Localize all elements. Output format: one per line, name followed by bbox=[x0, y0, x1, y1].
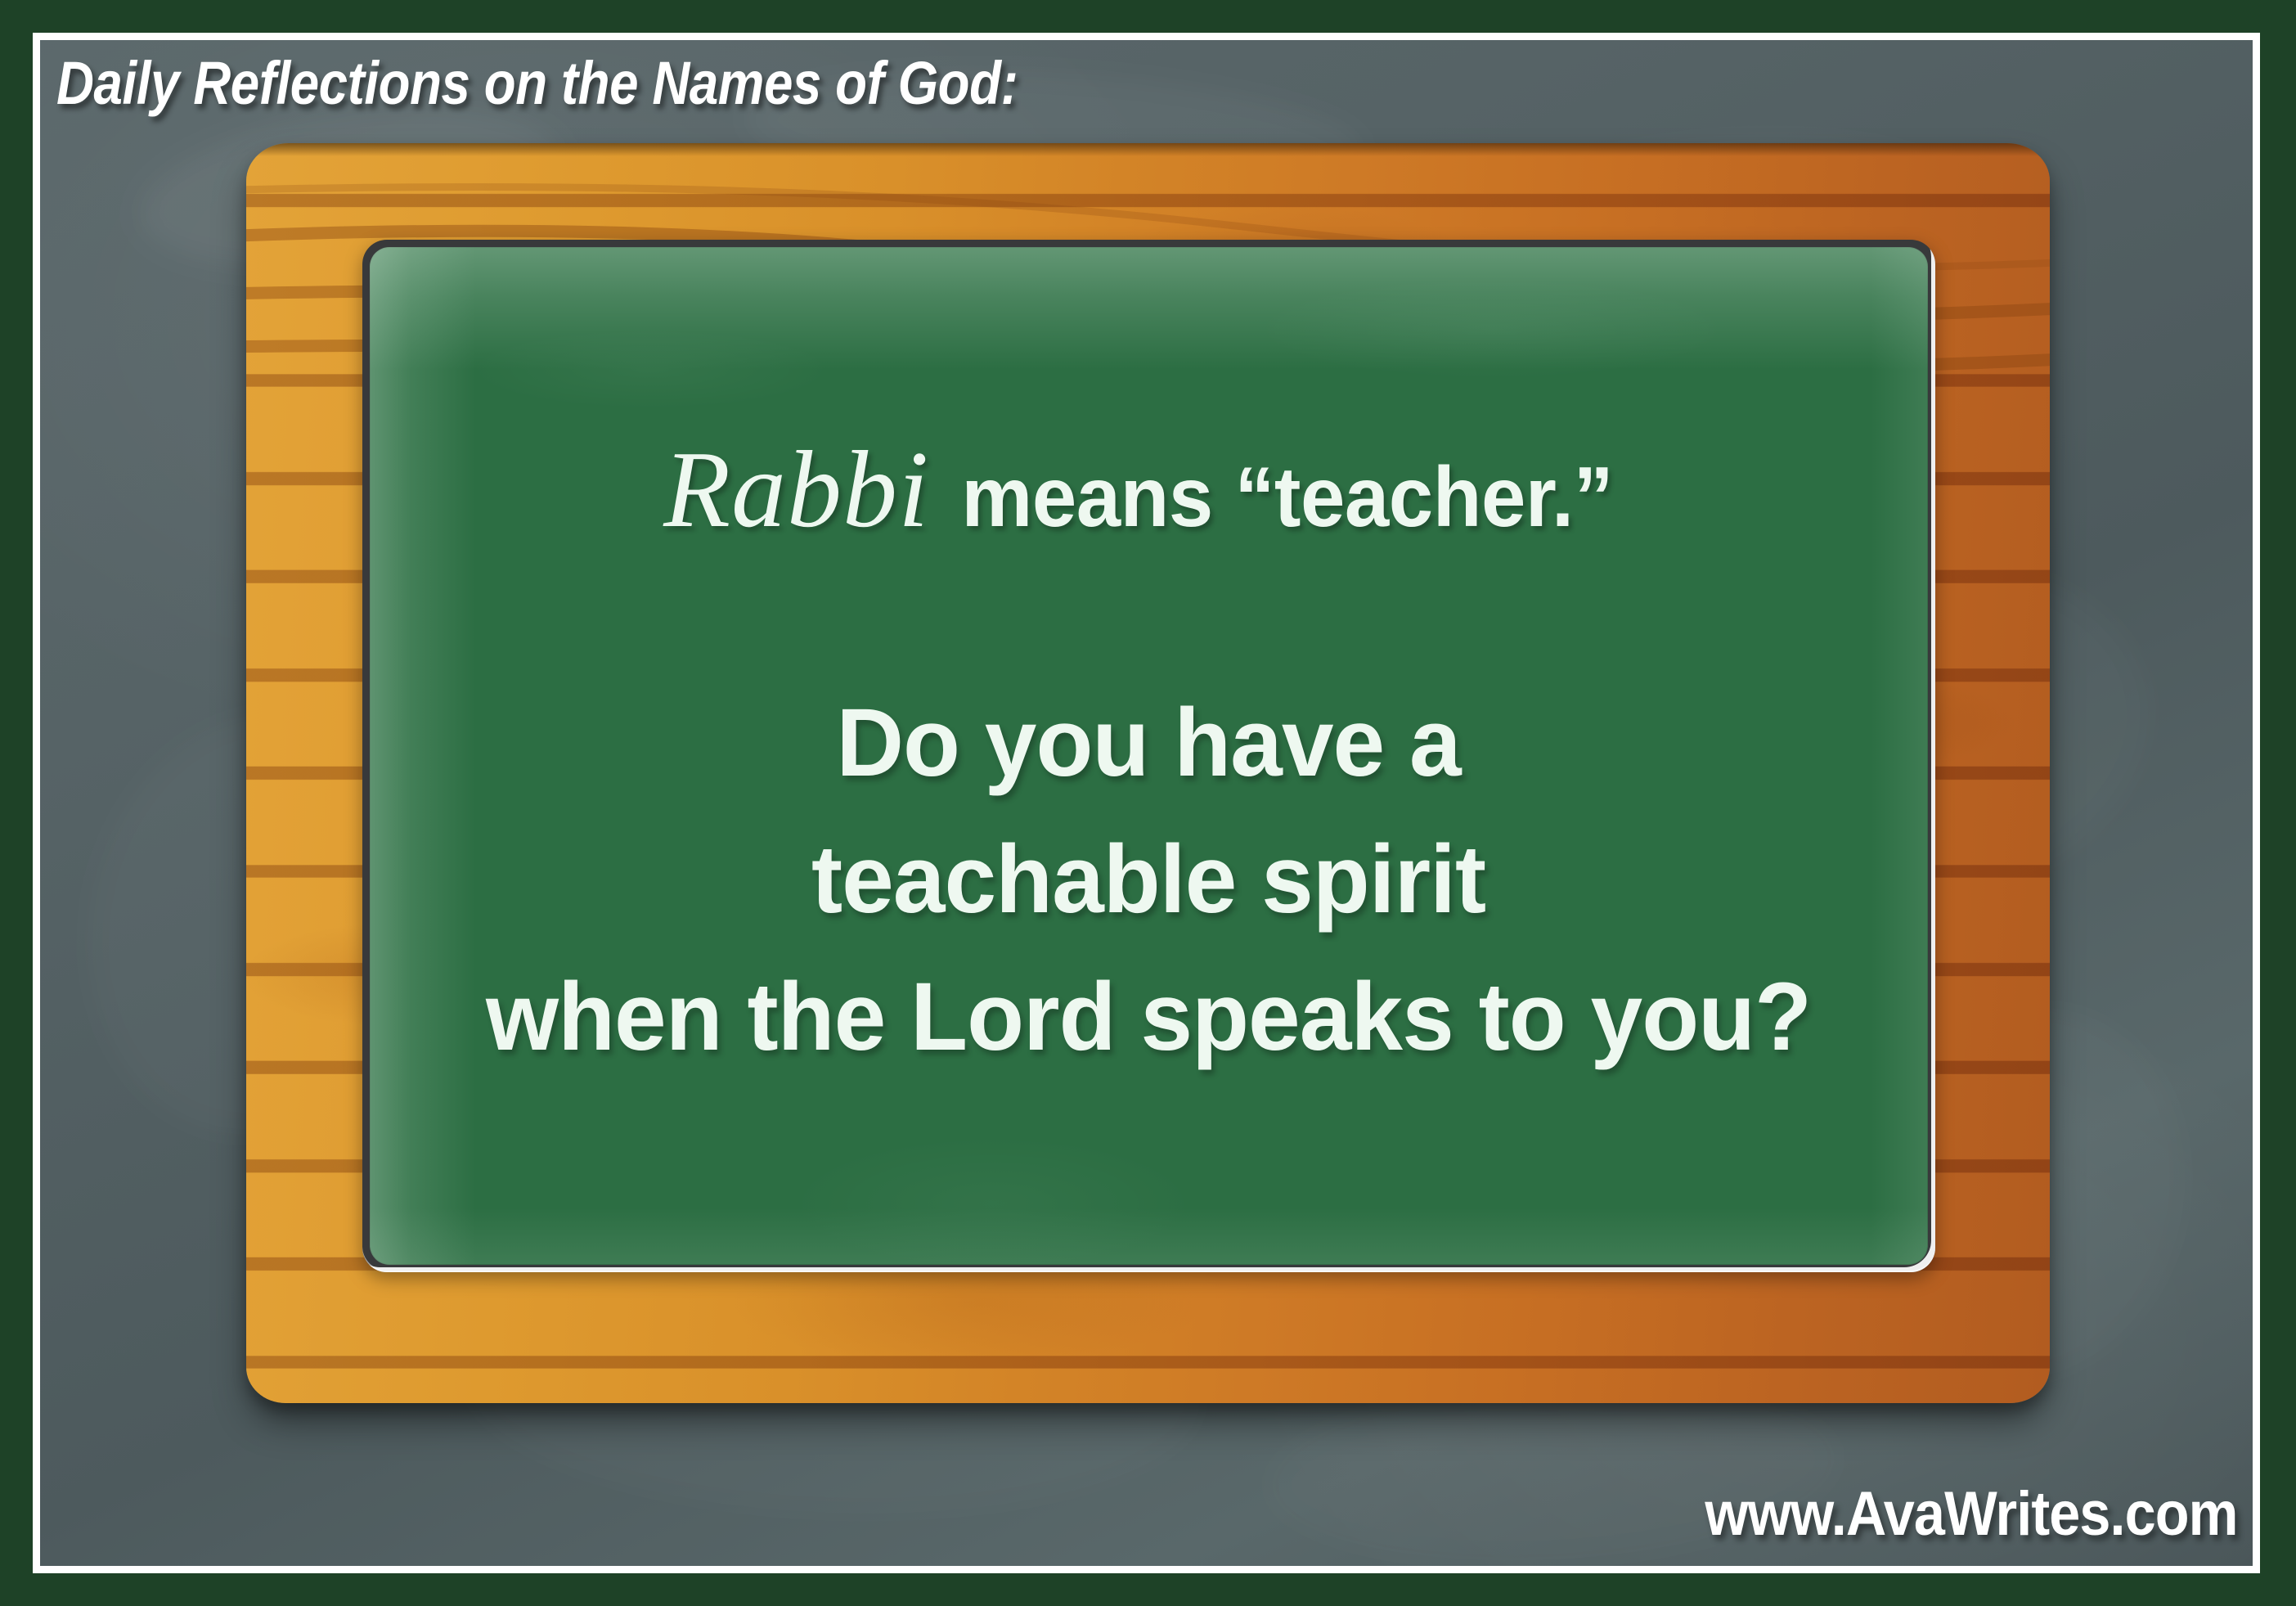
frame-top-shadow bbox=[246, 143, 2050, 156]
definition-term: Rabbi bbox=[663, 429, 929, 550]
question-line-1: Do you have a bbox=[487, 675, 1812, 812]
slate-background-panel: Daily Reflections on the Names of God: bbox=[40, 40, 2253, 1566]
page-title: Daily Reflections on the Names of God: bbox=[56, 48, 1018, 118]
poster-root: Daily Reflections on the Names of God: bbox=[0, 0, 2296, 1606]
chalkboard: Rabbimeans “teacher.” Do you have a teac… bbox=[362, 240, 1935, 1272]
definition-line: Rabbimeans “teacher.” bbox=[663, 426, 1634, 552]
definition-rest: means “teacher.” bbox=[962, 449, 1614, 547]
question-line-2: teachable spirit bbox=[487, 812, 1812, 949]
chalkboard-text-block: Rabbimeans “teacher.” Do you have a teac… bbox=[370, 247, 1928, 1265]
website-url: www.AvaWrites.com bbox=[1705, 1478, 2238, 1550]
question-line-3: when the Lord speaks to you? bbox=[487, 949, 1812, 1086]
framed-chalkboard: Rabbimeans “teacher.” Do you have a teac… bbox=[246, 143, 2050, 1403]
chalkboard-surface: Rabbimeans “teacher.” Do you have a teac… bbox=[370, 247, 1928, 1265]
reflection-question: Do you have a teachable spirit when the … bbox=[465, 675, 1831, 1086]
